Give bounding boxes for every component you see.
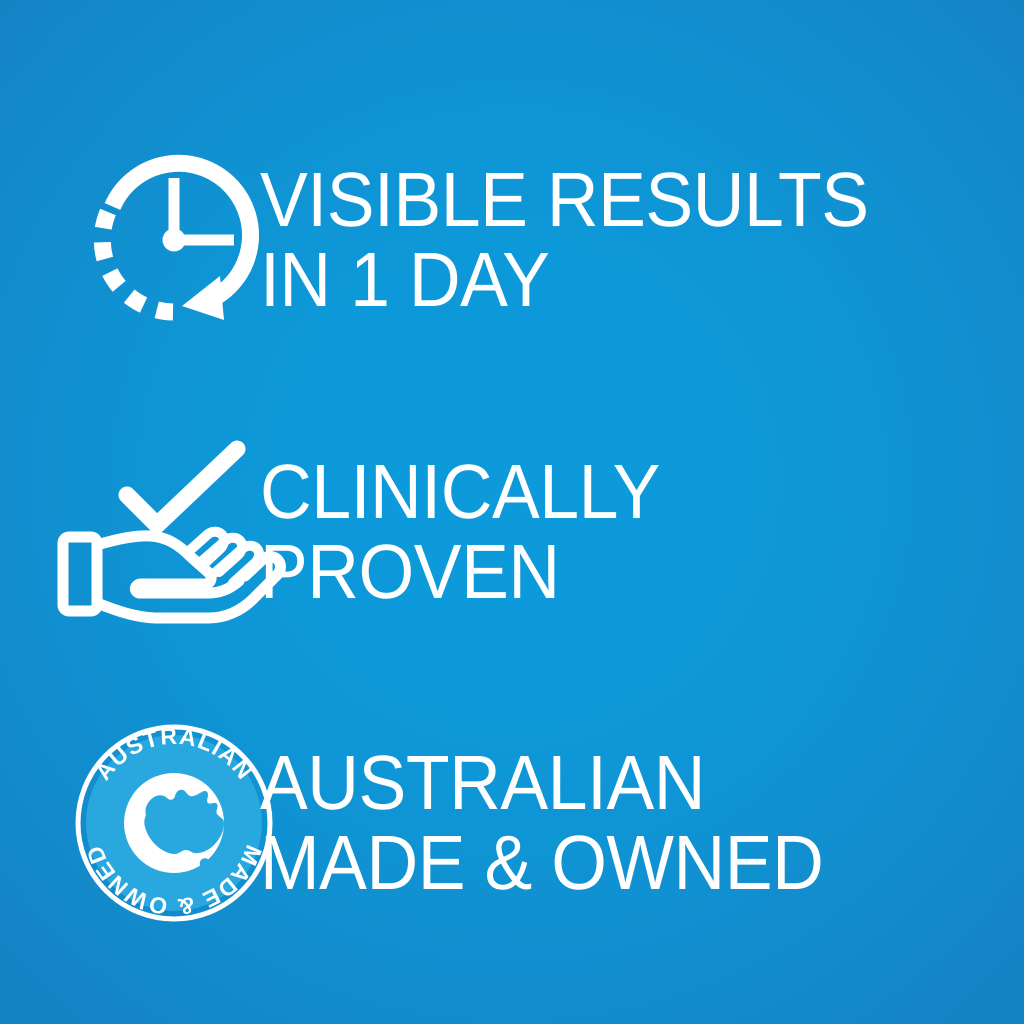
benefit-label: VISIBLE RESULTS IN 1 DAY	[260, 160, 869, 320]
australian-made-owned-badge-icon: AUSTRALIAN MADE & OWNED	[0, 718, 260, 928]
benefit-label: CLINICALLY PROVEN	[260, 452, 660, 612]
benefits-panel: VISIBLE RESULTS IN 1 DAY	[0, 0, 1024, 1024]
benefit-row: VISIBLE RESULTS IN 1 DAY	[0, 140, 914, 340]
benefit-label: AUSTRALIAN MADE & OWNED	[260, 743, 823, 903]
benefits-list: VISIBLE RESULTS IN 1 DAY	[0, 0, 1024, 1024]
hand-checkmark-icon	[0, 432, 260, 632]
benefit-row: CLINICALLY PROVEN	[0, 432, 690, 632]
clock-arrow-icon	[0, 140, 260, 340]
benefit-row: AUSTRALIAN MADE & OWNED AUSTRALIAN MADE …	[0, 718, 866, 928]
